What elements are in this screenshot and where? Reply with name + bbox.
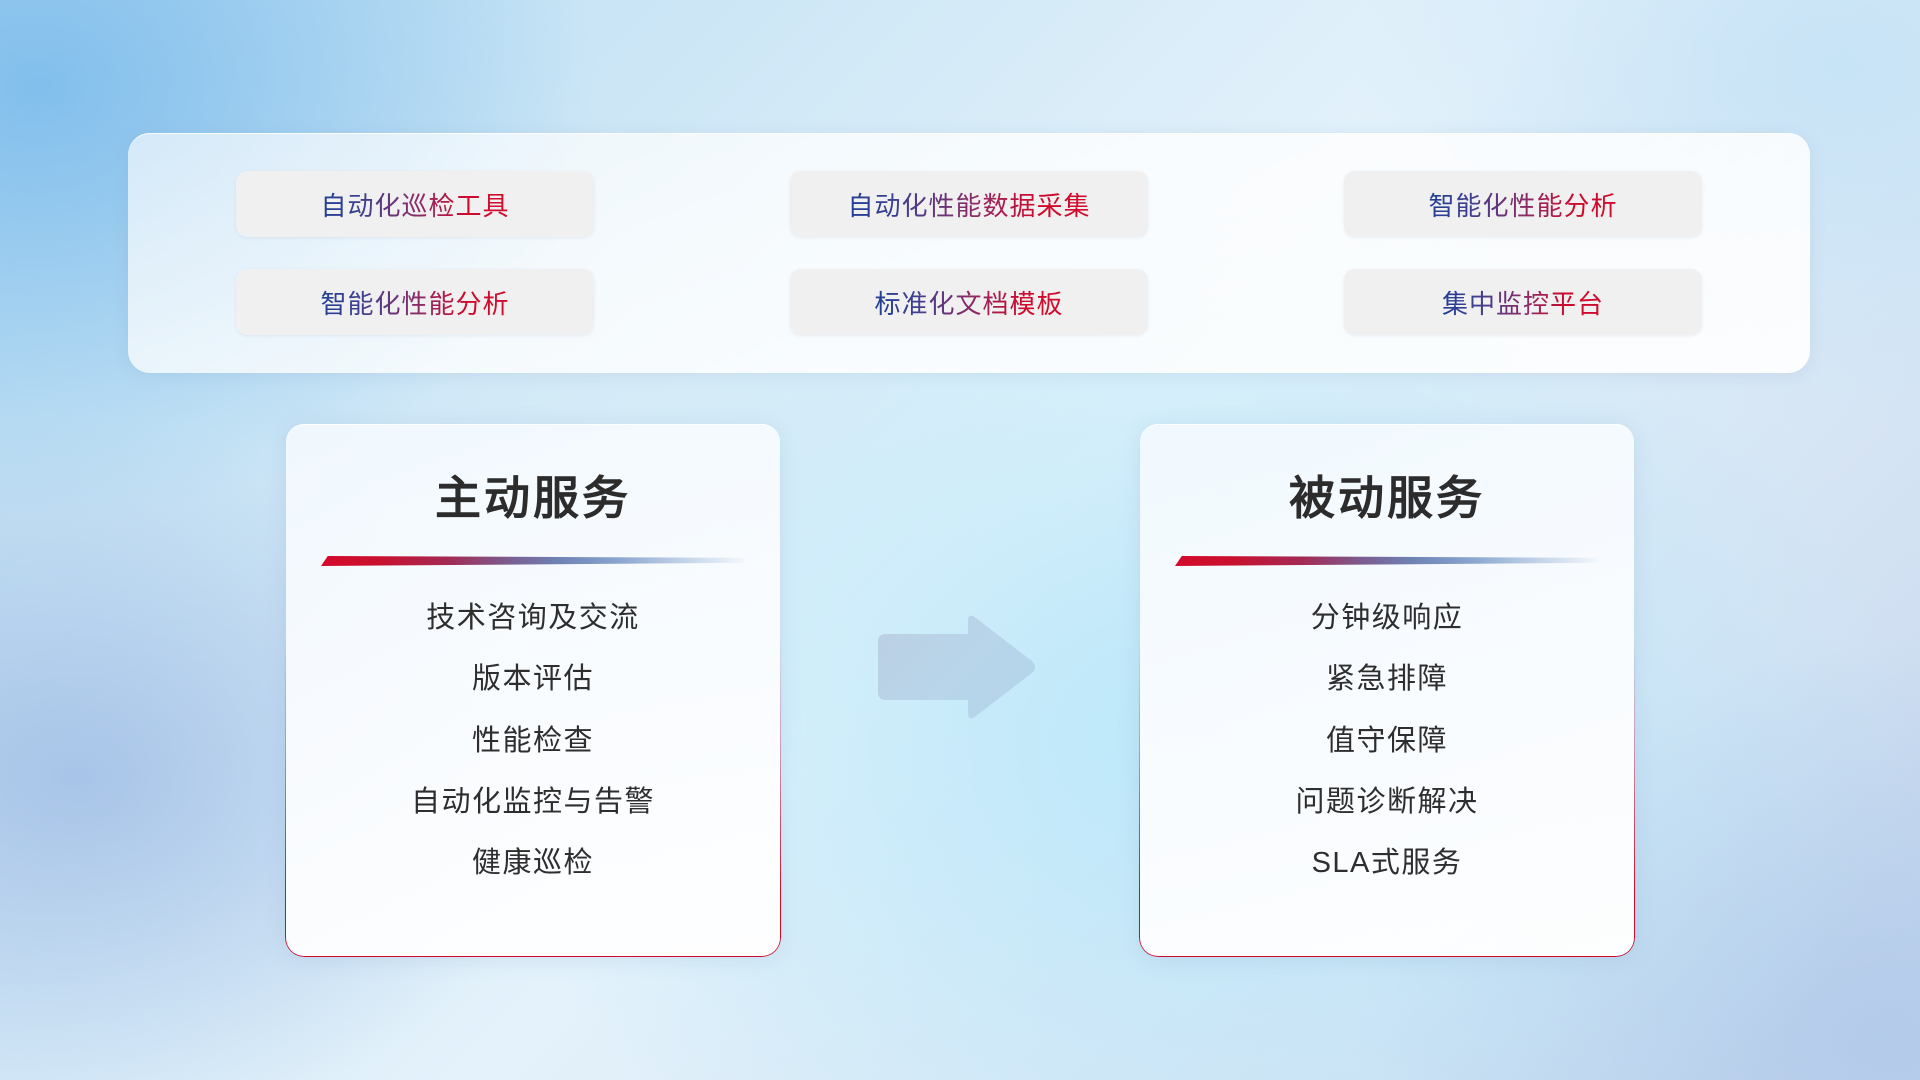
capability-chip-label: 智能化性能分析 — [320, 284, 509, 321]
card-title-active: 主动服务 — [286, 462, 780, 528]
list-item: 自动化监控与告警 — [411, 784, 655, 820]
capability-chip-label: 智能化性能分析 — [1428, 186, 1617, 223]
service-list-active: 技术咨询及交流 版本评估 性能检查 自动化监控与告警 健康巡检 — [286, 600, 780, 881]
list-item: 问题诊断解决 — [1295, 784, 1478, 820]
card-divider — [1175, 556, 1599, 566]
list-item: SLA式服务 — [1312, 845, 1463, 881]
list-item: 性能检查 — [472, 723, 594, 759]
list-item: 健康巡检 — [472, 845, 594, 881]
card-divider — [321, 556, 745, 566]
list-item: 值守保障 — [1326, 723, 1448, 759]
slide-canvas: 自动化巡检工具 自动化性能数据采集 智能化性能分析 智能化性能分析 标准化文档模… — [0, 0, 1920, 1080]
capability-panel: 自动化巡检工具 自动化性能数据采集 智能化性能分析 智能化性能分析 标准化文档模… — [128, 133, 1810, 373]
right-arrow-icon — [872, 612, 1038, 722]
service-card-active[interactable]: 主动服务 技术咨询及交流 版本评估 性能检查 自动化监控与告警 健康巡检 — [286, 424, 780, 956]
capability-chip-grid: 自动化巡检工具 自动化性能数据采集 智能化性能分析 智能化性能分析 标准化文档模… — [236, 171, 1702, 335]
capability-chip-6[interactable]: 集中监控平台 — [1344, 269, 1702, 335]
capability-chip-3[interactable]: 智能化性能分析 — [1344, 171, 1702, 237]
capability-chip-5[interactable]: 标准化文档模板 — [790, 269, 1148, 335]
capability-chip-2[interactable]: 自动化性能数据采集 — [790, 171, 1148, 237]
capability-chip-4[interactable]: 智能化性能分析 — [236, 269, 594, 335]
capability-chip-label: 自动化巡检工具 — [320, 186, 509, 223]
capability-chip-label: 自动化性能数据采集 — [847, 186, 1090, 223]
list-item: 技术咨询及交流 — [426, 600, 640, 636]
service-card-passive[interactable]: 被动服务 分钟级响应 紧急排障 值守保障 问题诊断解决 SLA式服务 — [1140, 424, 1634, 956]
capability-chip-label: 标准化文档模板 — [874, 284, 1063, 321]
list-item: 紧急排障 — [1326, 661, 1448, 697]
list-item: 分钟级响应 — [1311, 600, 1464, 636]
capability-chip-1[interactable]: 自动化巡检工具 — [236, 171, 594, 237]
list-item: 版本评估 — [472, 661, 594, 697]
capability-chip-label: 集中监控平台 — [1442, 284, 1604, 321]
card-title-passive: 被动服务 — [1140, 462, 1634, 528]
service-list-passive: 分钟级响应 紧急排障 值守保障 问题诊断解决 SLA式服务 — [1140, 600, 1634, 881]
